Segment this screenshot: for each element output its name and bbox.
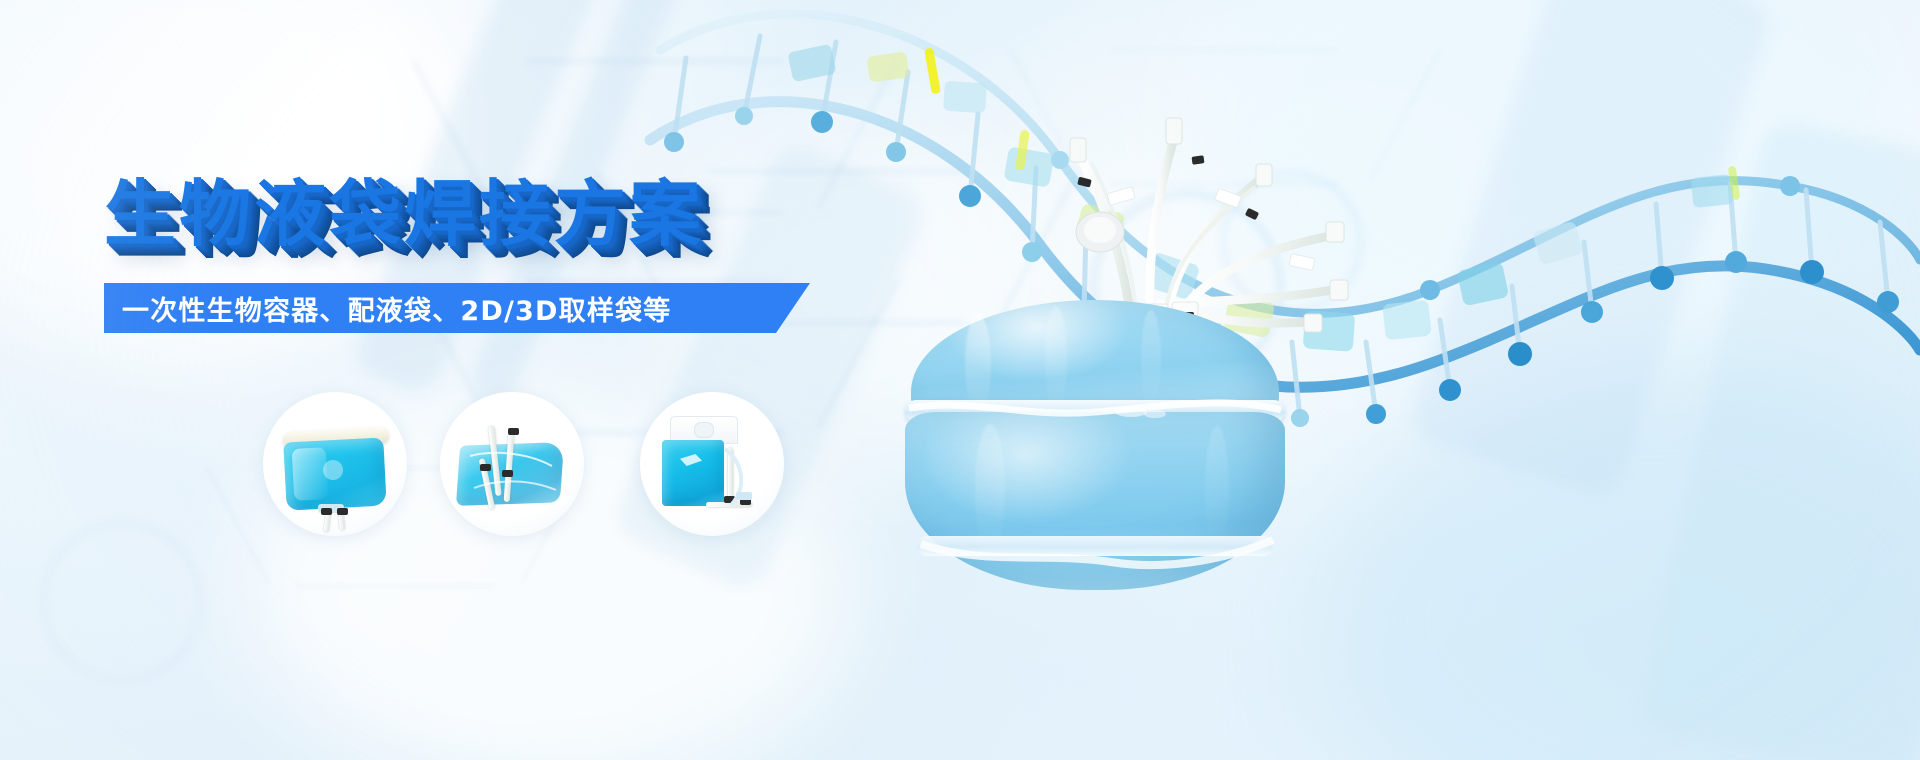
promo-banner: 生物液袋焊接方案 一次性生物容器、配液袋、2D/3D取样袋等 bbox=[0, 0, 1920, 760]
hero-bioprocess-bag bbox=[905, 300, 1285, 600]
pillow-bag-image bbox=[263, 392, 407, 536]
sampling-bag-image bbox=[640, 392, 784, 536]
3d-bag-image bbox=[440, 392, 584, 536]
sampling-bag-thumbnail[interactable] bbox=[640, 392, 784, 536]
3d-bag-thumbnail[interactable] bbox=[440, 392, 584, 536]
page-title: 生物液袋焊接方案 bbox=[104, 178, 704, 250]
tubing-manifold-assembly bbox=[960, 60, 1380, 330]
pillow-bag-thumbnail[interactable] bbox=[263, 392, 407, 536]
subtitle-banner: 一次性生物容器、配液袋、2D/3D取样袋等 bbox=[104, 283, 810, 333]
subtitle-text: 一次性生物容器、配液袋、2D/3D取样袋等 bbox=[104, 289, 671, 328]
